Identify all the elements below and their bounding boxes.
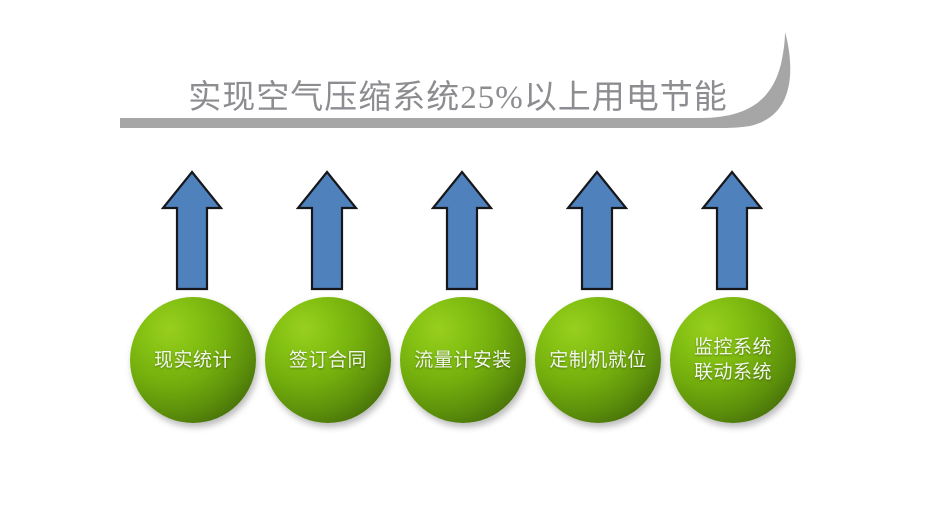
process-node-label: 流量计安装	[408, 348, 518, 373]
up-arrow-4	[566, 170, 628, 292]
up-arrow-3	[431, 170, 493, 292]
process-node-label: 监控系统 联动系统	[688, 335, 778, 385]
process-node-label: 现实统计	[148, 348, 238, 373]
up-arrow-5	[701, 170, 763, 292]
slide-canvas: 实现空气压缩系统25%以上用电节能 现实统计 签订合同 流量计安装 定制机就位 …	[0, 0, 945, 529]
process-node-5[interactable]: 监控系统 联动系统	[670, 297, 796, 423]
title-banner: 实现空气压缩系统25%以上用电节能	[120, 28, 800, 146]
process-node-2[interactable]: 签订合同	[265, 297, 391, 423]
process-node-1[interactable]: 现实统计	[130, 297, 256, 423]
process-node-label: 定制机就位	[543, 348, 653, 373]
process-node-3[interactable]: 流量计安装	[400, 297, 526, 423]
process-node-4[interactable]: 定制机就位	[535, 297, 661, 423]
up-arrow-2	[296, 170, 358, 292]
up-arrow-1	[161, 170, 223, 292]
page-title: 实现空气压缩系统25%以上用电节能	[158, 70, 758, 118]
process-node-label: 签订合同	[283, 348, 373, 373]
